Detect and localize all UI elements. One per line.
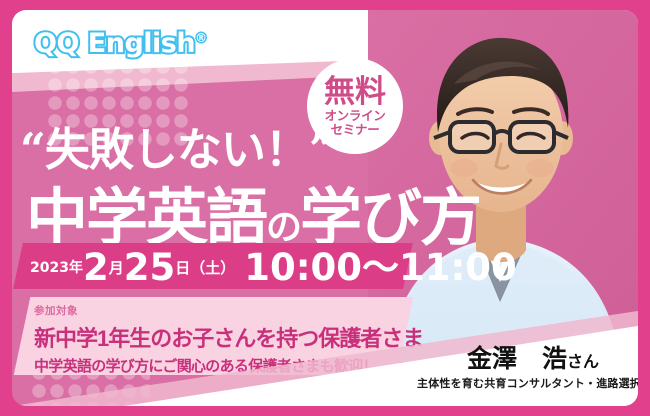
schedule-year: 2023年 (30, 257, 83, 277)
speaker-role: 主体性を育む共育コンサルタント・進路選択コーチ (417, 375, 638, 391)
speaker-name: 金澤 浩さん (467, 339, 599, 375)
seminar-poster: QQ English® 無料 オンライン セミナー “失敗しない！” 中学英語の… (0, 0, 650, 416)
schedule-time-range: 10:00〜11:00 (244, 249, 517, 286)
date-banner: 2023年 2 月 25 日（土） 10:00〜11:00 (30, 246, 410, 288)
badge-line-seminar: セミナー (331, 124, 380, 137)
qq-english-logo: QQ English® (34, 28, 207, 59)
logo-text: QQ English (34, 28, 195, 59)
speaker-name-text: 金澤 浩 (467, 344, 567, 373)
poster-card: QQ English® 無料 オンライン セミナー “失敗しない！” 中学英語の… (12, 10, 638, 406)
schedule-day-unit: 日（土） (175, 257, 235, 278)
schedule-month-number: 2 (83, 249, 109, 286)
registered-mark-icon: ® (195, 31, 207, 45)
audience-label: 参加対象 (34, 303, 414, 318)
audience-main-text: 新中学1年生のお子さんを持つ保護者さま (34, 321, 414, 353)
schedule-day-number: 25 (124, 249, 176, 286)
schedule-month-unit: 月 (109, 257, 124, 278)
headline-line-2-particle: の (266, 206, 300, 248)
speaker-honorific: さん (567, 352, 599, 371)
badge-line-free: 無料 (324, 76, 386, 107)
